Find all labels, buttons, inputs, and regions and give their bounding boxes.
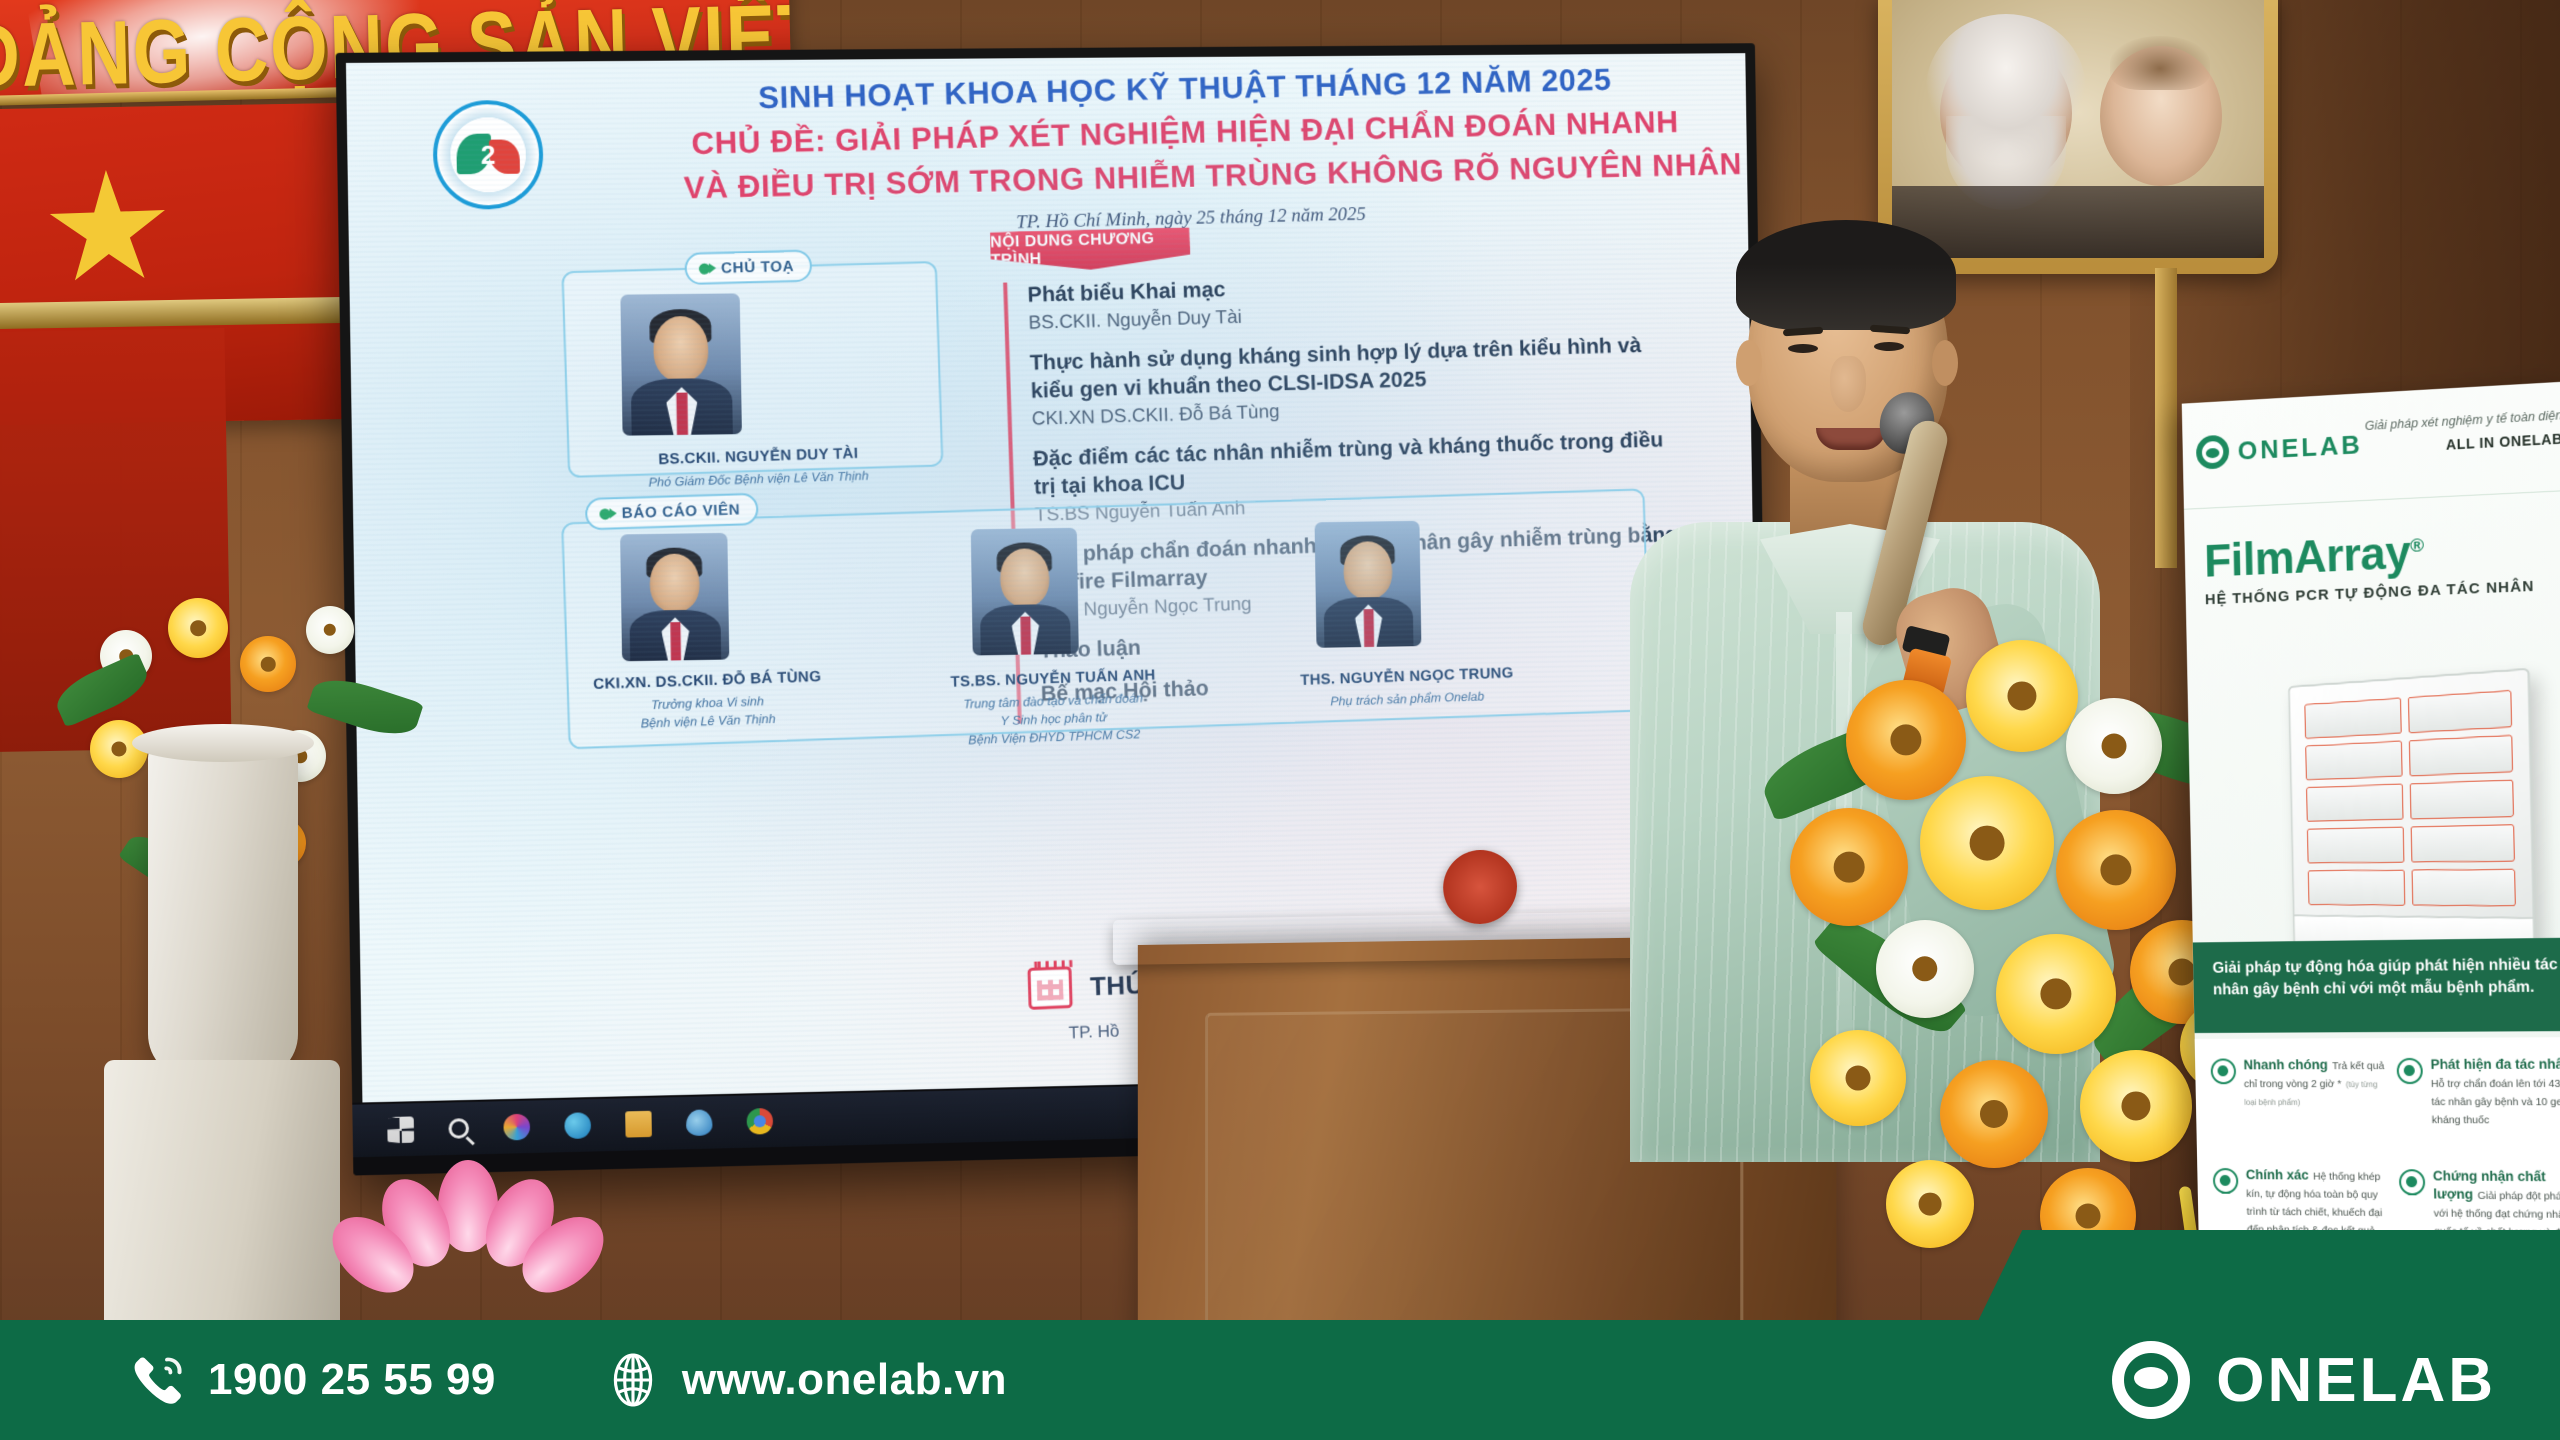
footer-brand-name: ONELAB [2216,1345,2496,1416]
headshot-tie [1020,617,1030,655]
onelab-standee-banner: ONELAB Giải pháp xét nghiệm y tế toàn di… [2182,381,2560,1285]
speakers-chip: BÁO CÁO VIÊN [585,493,759,531]
speaker-hair [1736,220,1956,330]
speaker-headshot [1315,521,1422,648]
marx-head-icon [1940,40,2072,186]
headshot-tie [670,622,680,660]
flower-white [1876,920,1974,1018]
standee-brand-name: ONELAB [2237,429,2363,466]
phone-icon [130,1353,184,1407]
speaker-ear-right [1932,340,1958,386]
feature-title: Nhanh chóng [2243,1057,2327,1072]
standee-green-band: Giải pháp tự động hóa giúp phát hiện nhi… [2193,937,2560,1033]
feature-item: Nhanh chóng Trả kết quả chỉ trong vòng 2… [2211,1056,2387,1153]
device-slot [2411,869,2516,906]
standee-product-name: FilmArray® [2204,524,2425,587]
device-slot [2305,741,2402,781]
headshot-tie [676,393,687,435]
filmarray-device-illustration [2288,668,2536,982]
footer-phone-item[interactable]: 1900 25 55 99 [130,1353,496,1407]
footer-website-item[interactable]: www.onelab.vn [608,1352,1007,1408]
onelab-logo-icon [2196,435,2229,470]
calendar-icon [1027,966,1072,1010]
hospital-logo-number: 2 [481,139,496,170]
device-slot [2306,784,2403,822]
flower-white [306,606,354,654]
flower-vase [148,740,298,1080]
cortana-icon[interactable] [503,1114,530,1141]
hospital-logo-icon: 2 [432,100,544,210]
onedrive-icon[interactable] [686,1109,713,1136]
flower-orange [1940,1060,2048,1168]
device-slot [2308,870,2405,906]
device-slot [2410,824,2515,862]
portrait-post [2155,268,2177,568]
agenda-item: Thực hành sử dụng kháng sinh hợp lý dựa … [1029,331,1681,431]
footer-bar: 1900 25 55 99 www.onelab.vn ON [0,1320,2560,1440]
chip-play-icon [609,508,616,518]
speakers-chip-label: BÁO CÁO VIÊN [622,501,741,522]
footer-phone-number: 1900 25 55 99 [208,1355,496,1405]
device-slot [2407,690,2512,733]
speaker-mouth [1816,428,1886,450]
speaker-ear-left [1736,340,1762,386]
flower-yellow [1886,1160,1974,1248]
device-slot [2409,779,2514,819]
flower-leaf [306,670,424,744]
file-explorer-icon[interactable] [625,1111,652,1138]
device-slot [2408,735,2513,777]
device-slot [2304,698,2401,739]
speed-icon [2211,1059,2237,1085]
device-slot [2307,827,2404,864]
flower-orange [1790,808,1908,926]
device-slot-grid [2304,690,2515,906]
chair-headshot [620,293,742,435]
speaker-nose [1830,356,1866,412]
slide-title-block: SINH HOẠT KHOA HỌC KỸ THUẬT THÁNG 12 NĂM… [681,60,1690,241]
flower-orange [240,636,296,692]
headshot-face [1000,548,1050,607]
slide-bottom-note: TP. Hồ [1068,1021,1119,1043]
chair-chip: CHỦ TOẠ [684,249,812,285]
flower-yellow [168,598,228,658]
flower-yellow [1996,934,2116,1054]
headshot-face [1343,541,1392,599]
standee-brand-row: ONELAB [2196,427,2363,470]
headshot-face [649,554,699,613]
chair-chip-label: CHỦ TOẠ [721,257,794,276]
lenin-head-icon [2100,46,2222,186]
flower-yellow [2080,1050,2192,1162]
lotus-flower [372,1160,562,1300]
multi-target-icon [2397,1058,2423,1084]
accuracy-icon [2213,1168,2239,1194]
portrait-inner [1892,0,2264,258]
feature-title: Chính xác [2246,1167,2309,1182]
flower-yellow [1920,776,2054,910]
speaker-eye-left [1788,344,1818,353]
speaker-headshot [971,528,1079,656]
flower-yellow [1966,640,2078,752]
standee-header: ONELAB Giải pháp xét nghiệm y tế toàn di… [2182,381,2560,510]
headshot-tie [1364,609,1374,647]
footer-onelab-logo: ONELAB [2112,1341,2496,1419]
program-content-tag: NỘI DUNG CHƯƠNG TRÌNH [990,227,1191,272]
footer-contact-group: 1900 25 55 99 www.onelab.vn [0,1352,1007,1408]
feature-desc: Hỗ trợ chẩn đoán lên tới 43 tác nhân gây… [2431,1078,2560,1127]
speaker-eye-right [1874,342,1904,351]
conference-photo: ĐẢNG CỘNG SẢN VIỆT N 2 SINH HOẠT KHOA HỌ… [0,0,2560,1440]
standee-tagline-italic: Giải pháp xét nghiệm y tế toàn diện [2365,408,2560,433]
standee-hero: FilmArray® HỆ THỐNG PCR TỰ ĐỘNG ĐA TÁC N… [2184,490,2560,609]
product-name-text: FilmArray [2204,526,2411,587]
search-icon[interactable] [448,1118,469,1139]
edge-icon[interactable] [564,1112,591,1139]
agenda-item: Phát biểu Khai mạc BS.CKII. Nguyễn Duy T… [1027,264,1678,335]
feature-title: Phát hiện đa tác nhân [2430,1056,2560,1071]
chip-play-icon [709,263,716,273]
windows-icon[interactable] [387,1116,414,1143]
feature-item: Phát hiện đa tác nhân Hỗ trợ chẩn đoán l… [2397,1055,2560,1154]
globe-icon [608,1352,658,1408]
flower-orange [1846,680,1966,800]
certificate-icon [2399,1169,2425,1195]
onelab-logo-icon [2112,1341,2190,1419]
headshot-face [653,316,709,381]
chrome-icon[interactable] [747,1108,774,1135]
flower-yellow [1810,1030,1906,1126]
flower-white [2066,698,2162,794]
speaker-headshot [620,533,729,661]
footer-website-url: www.onelab.vn [682,1355,1007,1405]
speaker-role: Trung tâm đào tạo và chẩn đoán Y Sinh họ… [903,687,1204,752]
flower-orange [2056,810,2176,930]
product-registered-icon: ® [2410,535,2424,557]
standee-tagline-bold: ALL IN ONELAB [2446,430,2560,452]
